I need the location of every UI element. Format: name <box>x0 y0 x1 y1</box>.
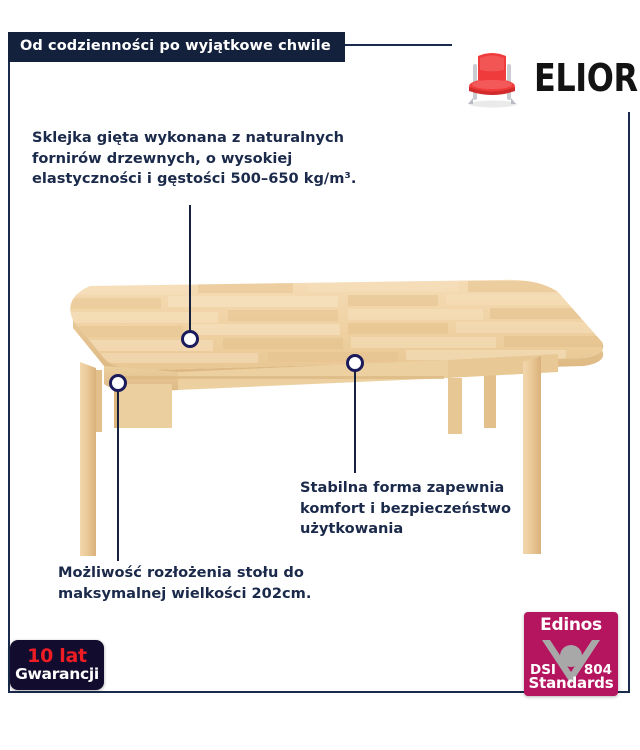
edinos-certification-badge: Edinos DSI 804 Standards <box>524 612 618 696</box>
leader-line-2 <box>354 363 356 473</box>
warranty-years: 10 lat <box>27 647 87 666</box>
callout-text-stability: Stabilna forma zapewnia komfort i bezpie… <box>300 478 568 540</box>
brand-logo: ELIOR <box>452 44 630 112</box>
leader-line-1 <box>189 205 191 341</box>
edinos-subtitle: Standards <box>524 674 618 692</box>
warranty-label: Gwarancji <box>15 666 99 684</box>
table-leg-front-left <box>80 362 96 556</box>
red-chair-icon <box>460 46 524 110</box>
callout-text-extension: Możliwość rozłożenia stołu do maksymalne… <box>58 563 348 604</box>
callout-marker-3 <box>109 374 127 392</box>
warranty-badge: 10 lat Gwarancji <box>10 640 104 690</box>
callout-text-plywood: Sklejka gięta wykonana z naturalnych for… <box>32 128 404 190</box>
infographic-canvas: Od codzienności po wyjątkowe chwile ELIO… <box>0 0 640 750</box>
callout-marker-2 <box>346 354 364 372</box>
header-title: Od codzienności po wyjątkowe chwile <box>8 32 345 62</box>
brand-name: ELIOR <box>534 59 638 97</box>
callout-marker-1 <box>181 330 199 348</box>
leader-line-3 <box>117 383 119 561</box>
table-extension-support <box>448 378 462 434</box>
